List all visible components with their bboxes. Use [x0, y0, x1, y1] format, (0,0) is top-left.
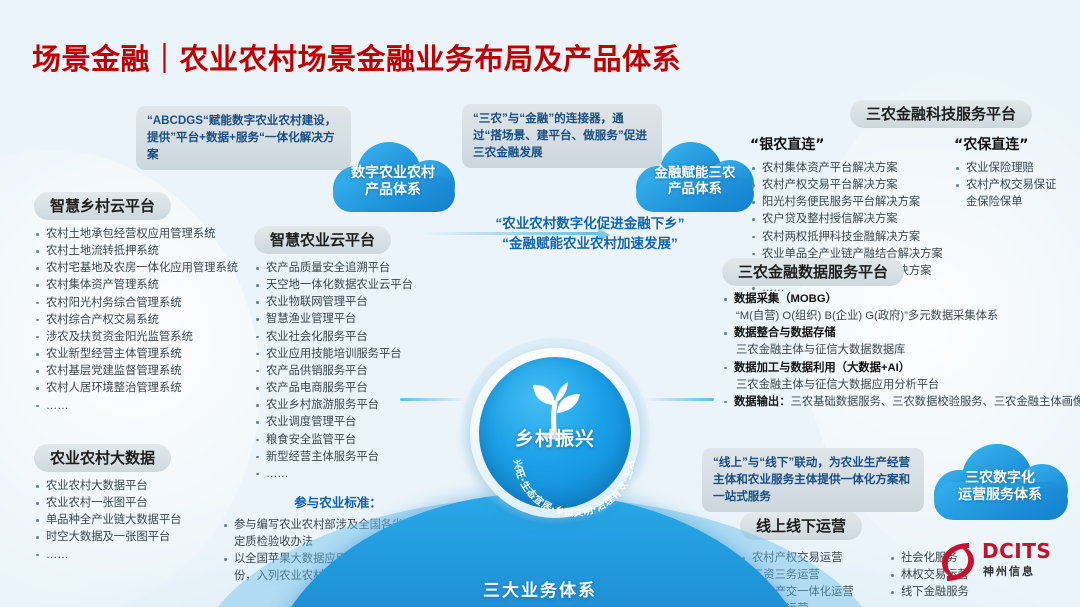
list-item: 数据采集（MOBG） “M(自营) O(组织) B(企业) G(政府)”多元数据…: [722, 291, 1072, 325]
list-item: 农村两权抵押科技金融解决方案: [750, 229, 940, 246]
data-service-item-label: 数据输出：: [734, 396, 791, 408]
panel-smart-agriculture-list: 农产品质量安全追溯平台 天空地一体化数据农业云平台 农业物联网管理平台 智慧渔业…: [254, 260, 464, 483]
bank-direct-title: “银农直连”: [750, 134, 940, 154]
list-item: 农户贷及整村授信解决方案: [750, 211, 940, 228]
list-item: 涉农及扶贫资金阳光监管系统: [34, 329, 260, 346]
callout-abcdgs: “ABCDGS“赋能数字农业农村建设，提供”平台+数据+服务“一体化解决方案: [136, 106, 351, 170]
panel-smart-village-title: 智慧乡村云平台: [34, 192, 171, 220]
insurance-direct-list: 农业保险理赔 农村产权交易保证金保险保单: [954, 160, 1064, 211]
cloud-finance-empower-line1: 金融赋能三农: [655, 165, 736, 181]
company-logo: DCITS 神州信息: [936, 537, 1068, 589]
emblem-title: 乡村振兴: [460, 424, 650, 451]
list-item: 农业新型经营主体管理系统: [34, 346, 260, 363]
panel-data-service-title: 三农金融数据服务平台: [722, 258, 904, 286]
data-service-item-detail: 三农基础数据服务、三农数据校验服务、三农金融主体画像、三农信用评价分析报告、三农…: [791, 396, 1080, 408]
panel-data-service-list: 数据采集（MOBG） “M(自营) O(组织) B(企业) G(政府)”多元数据…: [722, 291, 1072, 411]
panel-smart-village: 智慧乡村云平台 农村土地承包经营权应用管理系统 农村土地流转抵押系统 农村宅基地…: [34, 192, 260, 415]
infographic-canvas: 场景金融｜农业农村场景金融业务布局及产品体系 “ABCDGS“赋能数字农业农村建…: [0, 0, 1080, 607]
emblem-arc-text: 产业兴旺·生态宜居·乡风文明·治理有效·生活富裕: [498, 376, 650, 528]
data-service-item-detail: 三农金融主体与征信大数据数据库: [734, 342, 1072, 359]
data-service-item-label: 数据采集（MOBG）: [734, 293, 837, 305]
data-service-item-label: 数据加工与数据利用（大数据+AI）: [734, 362, 910, 374]
list-item: 农产品供销服务平台: [254, 363, 464, 380]
panel-big-data-title: 农业农村大数据: [34, 444, 171, 472]
center-slogan-line2: “金融赋能农业农村加速发展”: [455, 234, 725, 254]
list-item: 数据加工与数据利用（大数据+AI） 三农金融主体与征信大数据应用分析平台: [722, 360, 1072, 394]
cloud-digital-agriculture: 数字农业农村 产品体系: [327, 140, 459, 212]
center-slogan-line1: “农业农村数字化促进金融下乡”: [455, 214, 725, 234]
callout-online-offline: “线上”与“线下”联动，为农业生产经营主体和农业服务主体提供一体化方案和一站式服…: [702, 448, 924, 512]
list-item: 农村基层党建监督管理系统: [34, 363, 260, 380]
list-item: ……: [34, 398, 260, 415]
list-item: ……: [889, 601, 999, 607]
list-item: 农村集体资产管理系统: [34, 277, 260, 294]
panel-smart-agriculture-title: 智慧农业云平台: [254, 226, 391, 254]
list-item: 农村人居环境整治管理系统: [34, 380, 260, 397]
data-service-item-detail: 三农金融主体与征信大数据应用分析平台: [734, 377, 1072, 394]
connector-right: [644, 398, 714, 401]
list-item: 农村阳光村务综合管理系统: [34, 295, 260, 312]
insurance-direct-title: “农保直连”: [954, 134, 1064, 154]
list-item: 智慧渔业管理平台: [254, 311, 464, 328]
page-title: 场景金融｜农业农村场景金融业务布局及产品体系: [32, 36, 681, 78]
panel-fintech-title: 三农金融科技服务平台: [850, 100, 1032, 128]
cloud-digital-agriculture-line2: 产品体系: [365, 181, 421, 198]
list-item: 农业物联网管理平台: [254, 294, 464, 311]
list-item: 数据输出：三农基础数据服务、三农数据校验服务、三农金融主体画像、三农信用评价分析…: [722, 394, 1072, 411]
list-item: 新型经营主体服务平台: [254, 449, 464, 466]
connector-left: [400, 398, 466, 401]
cloud-digital-operations: 三农数字化 运营服务体系: [930, 442, 1070, 520]
logo-wordmark: DCITS: [982, 539, 1051, 563]
center-emblem: 产业兴旺·生态宜居·乡风文明·治理有效·生活富裕 乡村振兴: [460, 338, 650, 528]
center-slogan: “农业农村数字化促进金融下乡” “金融赋能农业农村加速发展”: [455, 214, 725, 253]
list-item: 农村综合产权交易系统: [34, 312, 260, 329]
cloud-finance-empower-line2: 产品体系: [668, 181, 722, 197]
list-item: 农业保险理赔: [954, 160, 1064, 177]
list-item: 农业社会化服务平台: [254, 329, 464, 346]
list-item: 农村产权交易平台解决方案: [750, 177, 940, 194]
list-item: 农业应用技能培训服务平台: [254, 346, 464, 363]
cloud-digital-agriculture-line1: 数字农业农村: [351, 164, 435, 181]
list-item: 农村土地承包经营权应用管理系统: [34, 226, 260, 243]
list-item: 农业调度管理平台: [254, 414, 464, 431]
dcits-mark-icon: [936, 539, 980, 585]
data-service-item-label: 数据整合与数据存储: [734, 327, 836, 339]
logo-subtitle: 神州信息: [983, 563, 1035, 579]
list-item: 农村产权交易保证金保险保单: [954, 177, 1064, 211]
panel-smart-village-list: 农村土地承包经营权应用管理系统 农村土地流转抵押系统 农村宅基地及农房一体化应用…: [34, 226, 260, 415]
list-item: 阳光村务便民服务平台解决方案: [750, 194, 940, 211]
bottom-cloud-label: 三大业务体系: [483, 576, 597, 601]
list-item: 农产品电商服务平台: [254, 380, 464, 397]
list-item: 农村宅基地及农房一体化应用管理系统: [34, 260, 260, 277]
list-item: 天空地一体化数据农业云平台: [254, 277, 464, 294]
cloud-digital-operations-line1: 三农数字化: [965, 469, 1035, 486]
list-item: 农村集体资产平台解决方案: [750, 160, 940, 177]
panel-data-service: 三农金融数据服务平台 数据采集（MOBG） “M(自营) O(组织) B(企业)…: [722, 258, 1072, 411]
list-item: 农村土地流转抵押系统: [34, 243, 260, 260]
cloud-finance-empower: 金融赋能三农 产品体系: [632, 140, 758, 212]
list-item: 农产品质量安全追溯平台: [254, 260, 464, 277]
list-item: 数据整合与数据存储 三农金融主体与征信大数据数据库: [722, 325, 1072, 359]
list-item: 粮食安全监管平台: [254, 432, 464, 449]
cloud-digital-operations-line2: 运营服务体系: [958, 486, 1042, 503]
panel-smart-agriculture: 智慧农业云平台 农产品质量安全追溯平台 天空地一体化数据农业云平台 农业物联网管…: [254, 226, 464, 483]
list-item: ……: [254, 466, 464, 483]
data-service-item-detail: “M(自营) O(组织) B(企业) G(政府)”多元数据采集体系: [734, 308, 1072, 325]
